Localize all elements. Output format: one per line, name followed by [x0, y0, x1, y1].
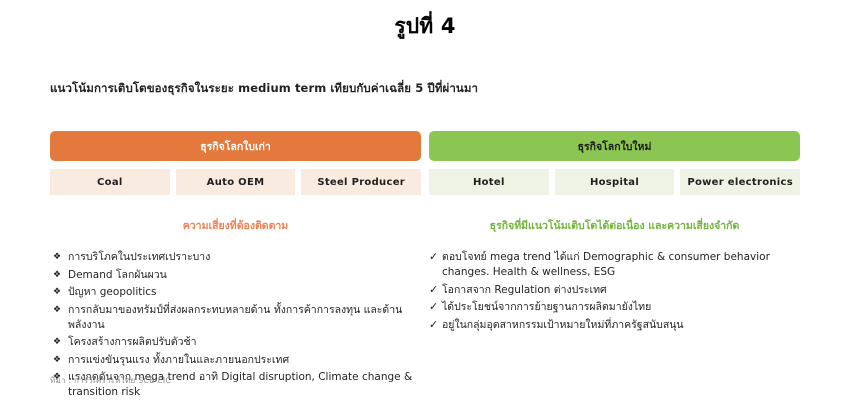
diamond-bullet-icon: ❖ — [53, 303, 61, 318]
check-bullet-icon: ✓ — [429, 249, 438, 264]
list-item: ❖Demand โลกผันผวน — [50, 268, 421, 283]
list-item-text: ปัญหา geopolitics — [68, 286, 157, 298]
figure-subtitle: แนวโน้มการเติบโตของธุรกิจในระยะ medium t… — [50, 80, 810, 98]
old-world-band: ธุรกิจโลกใบเก่า — [50, 131, 421, 161]
list-item: ❖การบริโภคในประเทศเปราะบาง — [50, 250, 421, 265]
new-world-band: ธุรกิจโลกใบใหม่ — [429, 131, 800, 161]
list-item: ❖การแข่งขันรุนแรง ทั้งภายในและภายนอกประเ… — [50, 353, 421, 368]
list-item-text: โอกาสจาก Regulation ต่างประเทศ — [442, 284, 607, 296]
check-bullet-icon: ✓ — [429, 299, 438, 314]
list-item-text: Demand โลกผันผวน — [68, 269, 167, 281]
list-item: ✓โอกาสจาก Regulation ต่างประเทศ — [429, 283, 800, 298]
list-item-text: ได้ประโยชน์จากการย้ายฐานการผลิตมายังไทย — [442, 301, 651, 313]
source-note: ที่มา : การวิเคราะห์โดย SCB EIC — [50, 374, 171, 387]
list-item-text: การแข่งขันรุนแรง ทั้งภายในและภายนอกประเท… — [68, 354, 289, 366]
chip-hospital: Hospital — [555, 169, 675, 195]
diamond-bullet-icon: ❖ — [53, 335, 61, 350]
list-item: ✓ตอบโจทย์ mega trend ได้แก่ Demographic … — [429, 250, 800, 280]
list-item: ❖โครงสร้างการผลิตปรับตัวช้า — [50, 335, 421, 350]
figure-title: รูปที่ 4 — [0, 10, 850, 43]
list-item-text: การบริโภคในประเทศเปราะบาง — [68, 251, 210, 263]
list-item: ✓ได้ประโยชน์จากการย้ายฐานการผลิตมายังไทย — [429, 300, 800, 315]
chip-power-electronics: Power electronics — [680, 169, 800, 195]
chip-steel-producer: Steel Producer — [301, 169, 421, 195]
list-item-text: อยู่ในกลุ่มอุตสาหกรรมเป้าหมายใหม่ที่ภาคร… — [442, 319, 684, 331]
column-new-world: ธุรกิจโลกใบใหม่ Hotel Hospital Power ele… — [429, 131, 800, 419]
check-bullet-icon: ✓ — [429, 317, 438, 332]
diamond-bullet-icon: ❖ — [53, 285, 61, 300]
list-item: ❖การกลับมาของทรัมป์ที่ส่งผลกระทบหลายด้าน… — [50, 303, 421, 333]
new-world-opportunity-list: ✓ตอบโจทย์ mega trend ได้แก่ Demographic … — [429, 250, 800, 335]
chip-auto-oem: Auto OEM — [176, 169, 296, 195]
new-world-chips: Hotel Hospital Power electronics — [429, 169, 800, 195]
figure-page: รูปที่ 4 แนวโน้มการเติบโตของธุรกิจในระยะ… — [0, 0, 850, 417]
check-bullet-icon: ✓ — [429, 282, 438, 297]
list-item-text: ตอบโจทย์ mega trend ได้แก่ Demographic &… — [442, 251, 770, 278]
old-world-chips: Coal Auto OEM Steel Producer — [50, 169, 421, 195]
diamond-bullet-icon: ❖ — [53, 353, 61, 368]
list-item: ✓อยู่ในกลุ่มอุตสาหกรรมเป้าหมายใหม่ที่ภาค… — [429, 318, 800, 333]
list-item: ❖ปัญหา geopolitics — [50, 285, 421, 300]
old-world-caption: ความเสี่ยงที่ต้องติดตาม — [50, 217, 421, 234]
chip-coal: Coal — [50, 169, 170, 195]
diamond-bullet-icon: ❖ — [53, 250, 61, 265]
new-world-caption: ธุรกิจที่มีแนวโน้มเติบโตได้ต่อเนื่อง และ… — [429, 217, 800, 234]
diamond-bullet-icon: ❖ — [53, 268, 61, 283]
list-item-text: การกลับมาของทรัมป์ที่ส่งผลกระทบหลายด้าน … — [68, 304, 402, 331]
chip-hotel: Hotel — [429, 169, 549, 195]
list-item-text: โครงสร้างการผลิตปรับตัวช้า — [68, 336, 197, 348]
